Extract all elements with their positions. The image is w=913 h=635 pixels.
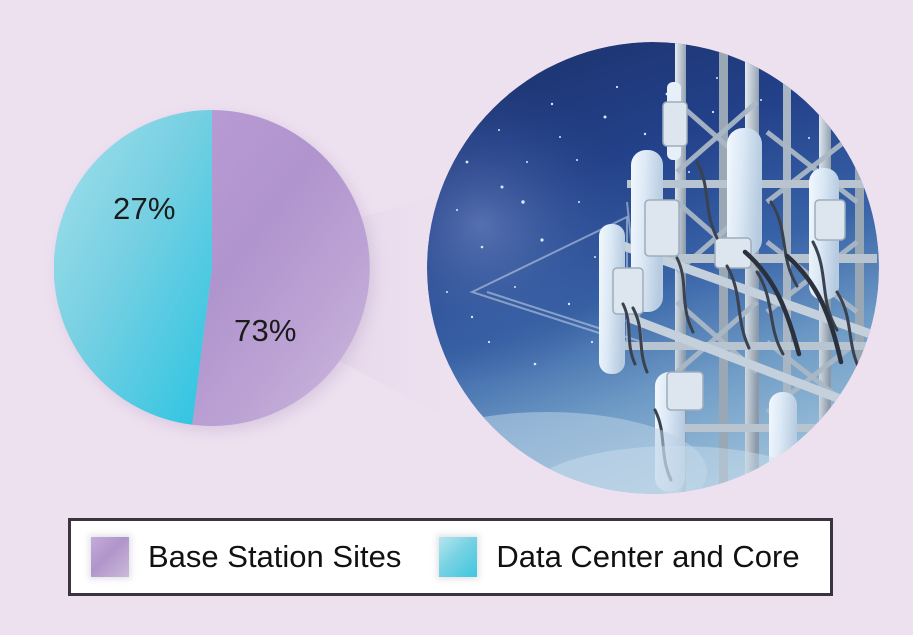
pie-label-base-station-sites: 73% <box>234 313 297 349</box>
cell-tower-night-sky-photo <box>427 42 879 494</box>
legend-label-data-center-and-core: Data Center and Core <box>496 539 799 575</box>
legend-item-data-center-and-core[interactable]: Data Center and Core <box>439 537 799 577</box>
legend-label-base-station-sites: Base Station Sites <box>148 539 401 575</box>
cyan-swatch-icon <box>439 537 477 577</box>
pie-label-data-center-and-core: 27% <box>113 191 176 227</box>
purple-swatch-icon <box>91 537 129 577</box>
pie-chart: 27% 73% <box>54 110 370 426</box>
infographic-canvas: 27% 73% <box>0 0 913 635</box>
legend-item-base-station-sites[interactable]: Base Station Sites <box>91 537 401 577</box>
chart-legend: Base Station Sites Data Center and Core <box>68 518 833 596</box>
pie-slice-data-center-and-core[interactable] <box>54 110 212 425</box>
pie-slice-base-station-sites[interactable] <box>192 110 369 426</box>
cell-tower-photo-circle <box>427 42 879 494</box>
pie-chart-svg <box>54 110 370 426</box>
